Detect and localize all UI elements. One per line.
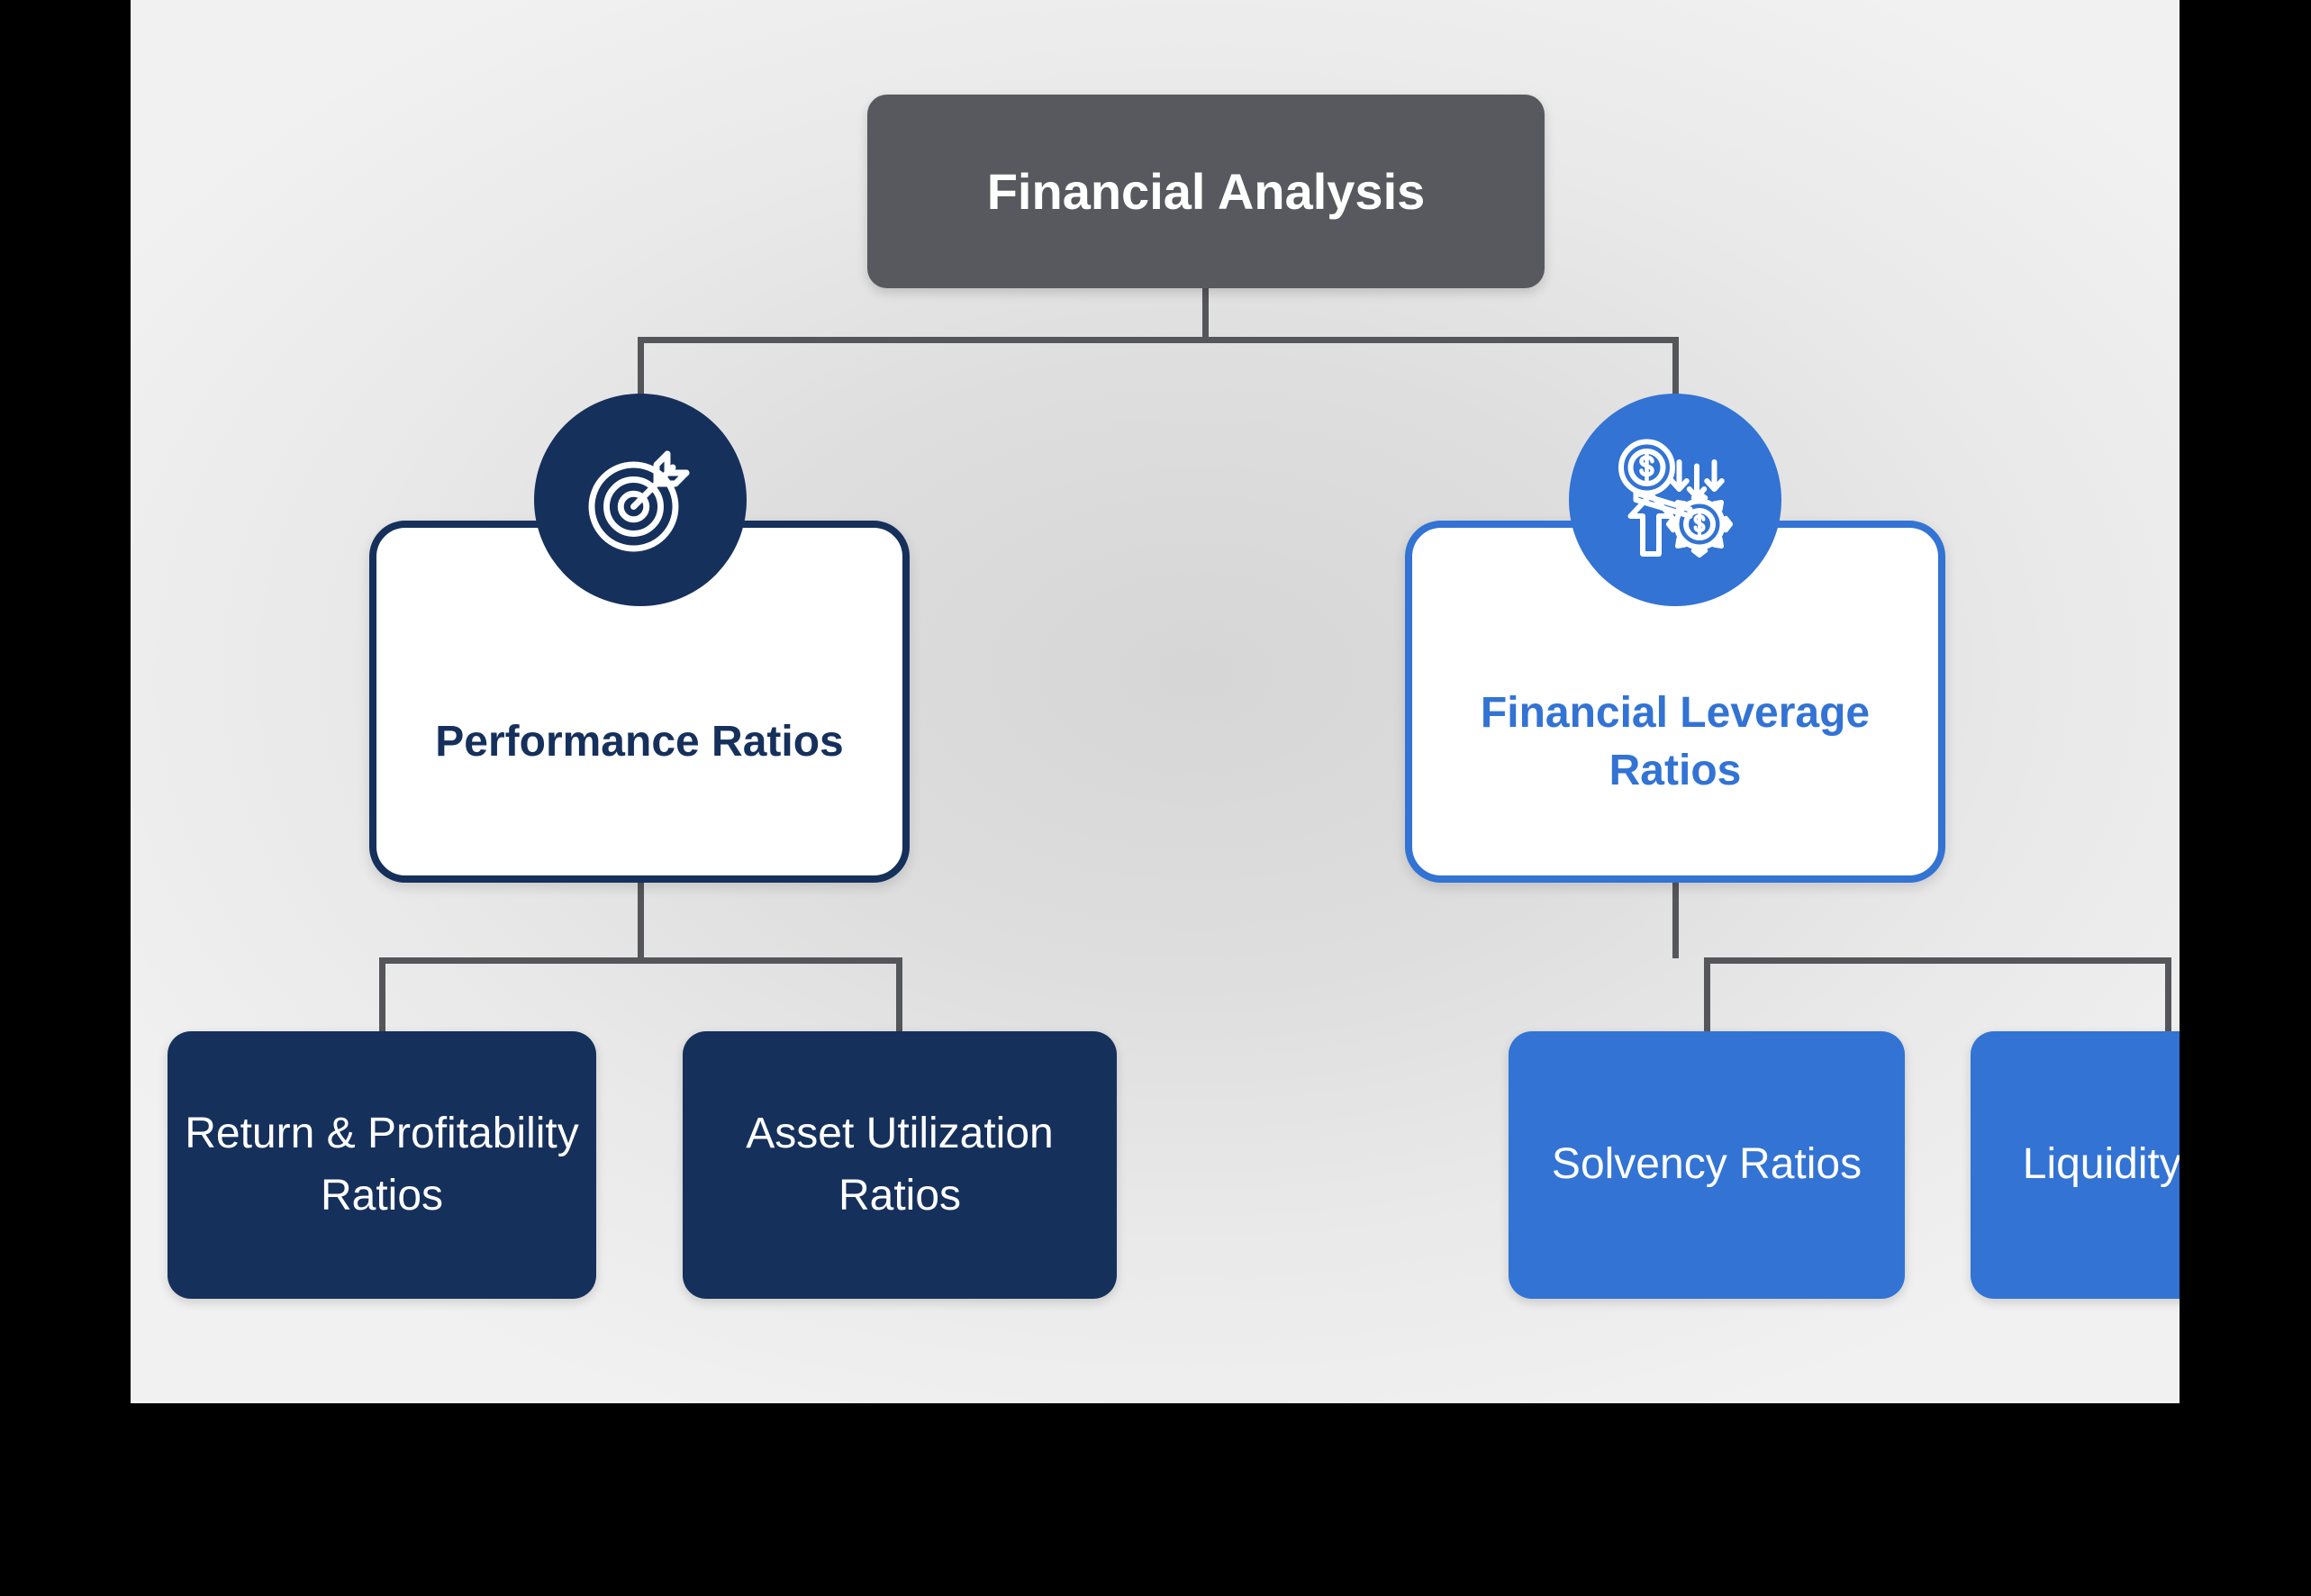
leaf-node-label: Asset Utilization Ratios — [695, 1103, 1104, 1226]
connector-left-children-bar — [379, 957, 902, 964]
root-node[interactable]: Financial Analysis — [867, 95, 1545, 288]
leaf-node-label: Liquidity Ratios — [2023, 1134, 2180, 1195]
financial-leverage-icon — [1569, 394, 1781, 606]
leaf-node-asset-utilization-ratios[interactable]: Asset Utilization Ratios — [683, 1031, 1117, 1299]
leaf-node-label: Solvency Ratios — [1552, 1134, 1862, 1195]
leaf-node-return-profitability-ratios[interactable]: Return & Profitability Ratios — [168, 1031, 596, 1299]
connector-leaf-2-drop — [1704, 957, 1710, 1035]
root-node-label: Financial Analysis — [987, 159, 1426, 225]
branch-node-label: Performance Ratios — [435, 713, 844, 771]
diagram-panel: Financial Analysis Performance Ratios Fi… — [131, 0, 2180, 1403]
branch-node-label: Financial Leverage Ratios — [1428, 685, 1922, 801]
connector-branch-right-drop — [1672, 337, 1679, 400]
connector-level1-bar — [638, 337, 1675, 343]
leaf-node-liquidity-ratios[interactable]: Liquidity Ratios — [1971, 1031, 2180, 1299]
connector-branch-left-drop — [638, 337, 644, 400]
connector-leaf-1-drop — [896, 957, 902, 1035]
connector-leaf-0-drop — [379, 957, 385, 1035]
screenshot-canvas: Financial Analysis Performance Ratios Fi… — [0, 0, 2311, 1596]
connector-right-card-stem — [1672, 883, 1679, 958]
leaf-node-solvency-ratios[interactable]: Solvency Ratios — [1509, 1031, 1905, 1299]
connector-right-children-bar — [1704, 957, 2171, 964]
connector-left-card-stem — [638, 883, 644, 958]
connector-root-stem — [1202, 288, 1209, 337]
target-arrow-icon — [534, 394, 747, 606]
leaf-node-label: Return & Profitability Ratios — [180, 1103, 584, 1226]
connector-leaf-3-drop — [2165, 957, 2171, 1035]
